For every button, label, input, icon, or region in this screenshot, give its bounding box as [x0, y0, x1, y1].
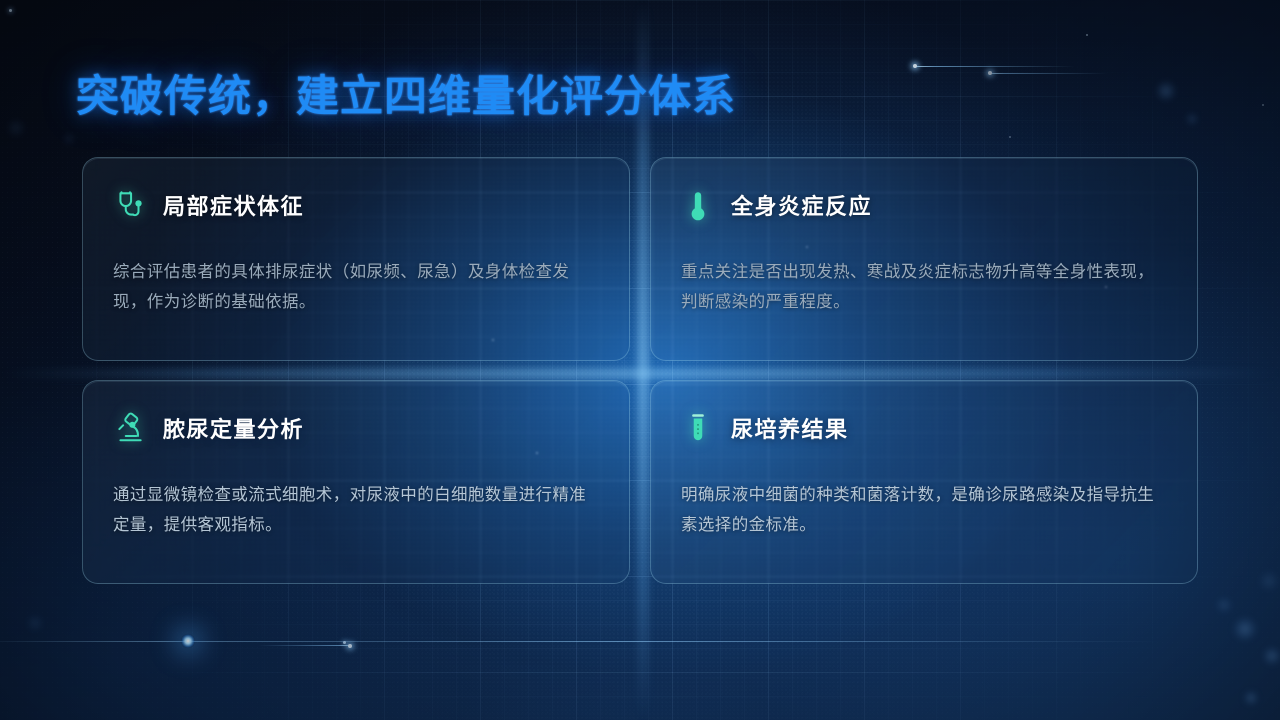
bokeh-particle	[26, 614, 44, 632]
card-header: 局部症状体征	[113, 186, 599, 224]
star-particle	[1262, 104, 1264, 106]
feature-card-pyuria-quantification[interactable]: 脓尿定量分析 通过显微镜检查或流式细胞术，对尿液中的白细胞数量进行精准定量，提供…	[82, 380, 630, 584]
light-streak	[915, 66, 1075, 67]
feature-card-grid: 局部症状体征 综合评估患者的具体排尿症状（如尿频、尿急）及身体检查发现，作为诊断…	[82, 157, 1198, 584]
card-description: 综合评估患者的具体排尿症状（如尿频、尿急）及身体检查发现，作为诊断的基础依据。	[113, 257, 599, 317]
star-particle	[1009, 136, 1011, 138]
card-description: 重点关注是否出现发热、寒战及炎症标志物升高等全身性表现，判断感染的严重程度。	[681, 257, 1167, 317]
slide-canvas: 突破传统，建立四维量化评分体系 局部症状体征 综合评估患者的具体排尿症状（如尿频…	[0, 0, 1280, 720]
card-header: 尿培养结果	[681, 409, 1167, 447]
flare-streak-line	[0, 641, 390, 642]
microscope-icon	[113, 411, 147, 445]
card-title: 尿培养结果	[731, 412, 849, 444]
bokeh-particle	[1232, 616, 1258, 642]
card-title: 脓尿定量分析	[163, 412, 304, 444]
stethoscope-icon	[113, 188, 147, 222]
thermometer-icon	[681, 188, 715, 222]
feature-card-urine-culture[interactable]: 尿培养结果 明确尿液中细菌的种类和菌落计数，是确诊尿路感染及指导抗生素选择的金标…	[650, 380, 1198, 584]
card-description: 通过显微镜检查或流式细胞术，对尿液中的白细胞数量进行精准定量，提供客观指标。	[113, 480, 599, 540]
bokeh-particle	[62, 132, 76, 146]
card-header: 全身炎症反应	[681, 186, 1167, 224]
bokeh-particle	[1155, 80, 1177, 102]
star-particle	[1086, 34, 1088, 36]
card-header: 脓尿定量分析	[113, 409, 599, 447]
light-streak	[990, 73, 1108, 74]
bokeh-particle	[1185, 112, 1199, 126]
bokeh-particle	[1258, 570, 1280, 592]
card-title: 局部症状体征	[163, 189, 304, 221]
light-streak	[258, 645, 350, 646]
star-particle	[343, 641, 346, 644]
card-title: 全身炎症反应	[731, 189, 872, 221]
feature-card-systemic-inflammation[interactable]: 全身炎症反应 重点关注是否出现发热、寒战及炎症标志物升高等全身性表现，判断感染的…	[650, 157, 1198, 361]
star-particle	[9, 9, 12, 12]
bokeh-particle	[1243, 690, 1259, 706]
bokeh-particle	[1215, 596, 1233, 614]
flare-streak-line	[180, 641, 1160, 642]
card-description: 明确尿液中细菌的种类和菌落计数，是确诊尿路感染及指导抗生素选择的金标准。	[681, 480, 1167, 540]
lens-flare	[181, 634, 195, 648]
feature-card-local-symptoms[interactable]: 局部症状体征 综合评估患者的具体排尿症状（如尿频、尿急）及身体检查发现，作为诊断…	[82, 157, 630, 361]
bokeh-particle	[6, 118, 26, 138]
test-tube-icon	[681, 411, 715, 445]
bokeh-particle	[1262, 646, 1280, 666]
page-title: 突破传统，建立四维量化评分体系	[76, 62, 736, 124]
